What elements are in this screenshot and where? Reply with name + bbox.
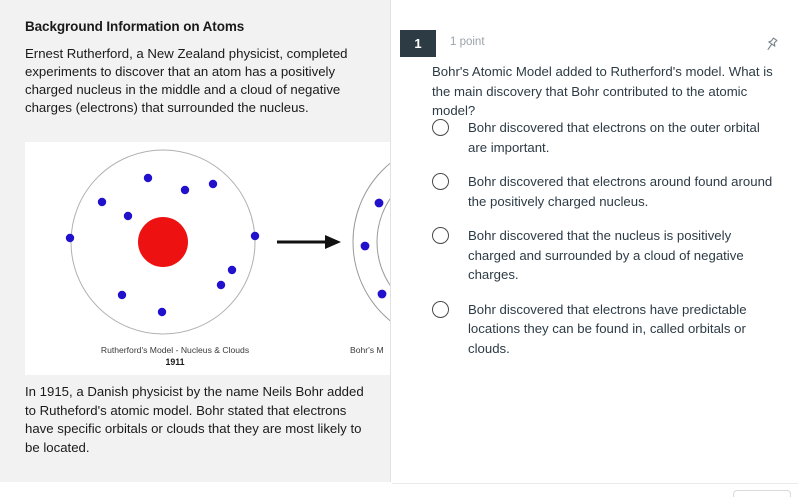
background-info-panel: Background Information on Atoms Ernest R… [0, 0, 391, 482]
arrow-head [325, 235, 341, 249]
radio-button-4[interactable] [432, 301, 449, 318]
quiz-question-page: Background Information on Atoms Ernest R… [0, 0, 798, 497]
answer-option-4-label: Bohr discovered that electrons have pred… [468, 300, 776, 359]
pin-question-button[interactable] [760, 33, 782, 55]
answer-options-list: Bohr discovered that electrons on the ou… [432, 118, 792, 373]
radio-button-1[interactable] [432, 119, 449, 136]
page-title: Background Information on Atoms [25, 19, 375, 34]
figure-caption-bohr: Bohr's M [350, 345, 391, 355]
question-points-label: 1 point [450, 36, 485, 48]
atom-diagram-svg [25, 142, 391, 347]
radio-button-3[interactable] [432, 227, 449, 244]
intro-paragraph: Ernest Rutherford, a New Zealand physici… [25, 45, 377, 117]
pushpin-icon [763, 36, 780, 53]
answer-option-3-label: Bohr discovered that the nucleus is posi… [468, 226, 776, 285]
caption-rutherford-text: Rutherford's Model - Nucleus & Clouds [101, 345, 249, 355]
answer-option-2[interactable]: Bohr discovered that electrons around fo… [432, 172, 792, 211]
atomic-models-figure: Rutherford's Model - Nucleus & Clouds 19… [25, 142, 391, 375]
answer-option-3[interactable]: Bohr discovered that the nucleus is posi… [432, 226, 792, 285]
footer-divider [392, 483, 798, 484]
radio-button-2[interactable] [432, 173, 449, 190]
answer-option-1-label: Bohr discovered that electrons on the ou… [468, 118, 776, 157]
footer-action-button[interactable] [733, 490, 791, 497]
caption-rutherford-year: 1911 [60, 357, 290, 368]
answer-option-1[interactable]: Bohr discovered that electrons on the ou… [432, 118, 792, 157]
question-number-badge: 1 [400, 30, 436, 57]
answer-option-4[interactable]: Bohr discovered that electrons have pred… [432, 300, 792, 359]
bohr-electron-group [361, 199, 391, 299]
figure-captions: Rutherford's Model - Nucleus & Clouds 19… [25, 345, 391, 375]
answer-option-2-label: Bohr discovered that electrons around fo… [468, 172, 776, 211]
bohr-model-group [353, 142, 391, 344]
question-text: Bohr's Atomic Model added to Rutherford'… [432, 62, 784, 121]
rutherford-nucleus [138, 217, 188, 267]
figure-caption-rutherford: Rutherford's Model - Nucleus & Clouds 19… [60, 345, 290, 368]
question-panel: 1 1 point Bohr's Atomic Model added to R… [392, 0, 798, 497]
bohr-paragraph: In 1915, a Danish physicist by the name … [25, 383, 377, 457]
question-header: 1 1 point [400, 30, 790, 58]
